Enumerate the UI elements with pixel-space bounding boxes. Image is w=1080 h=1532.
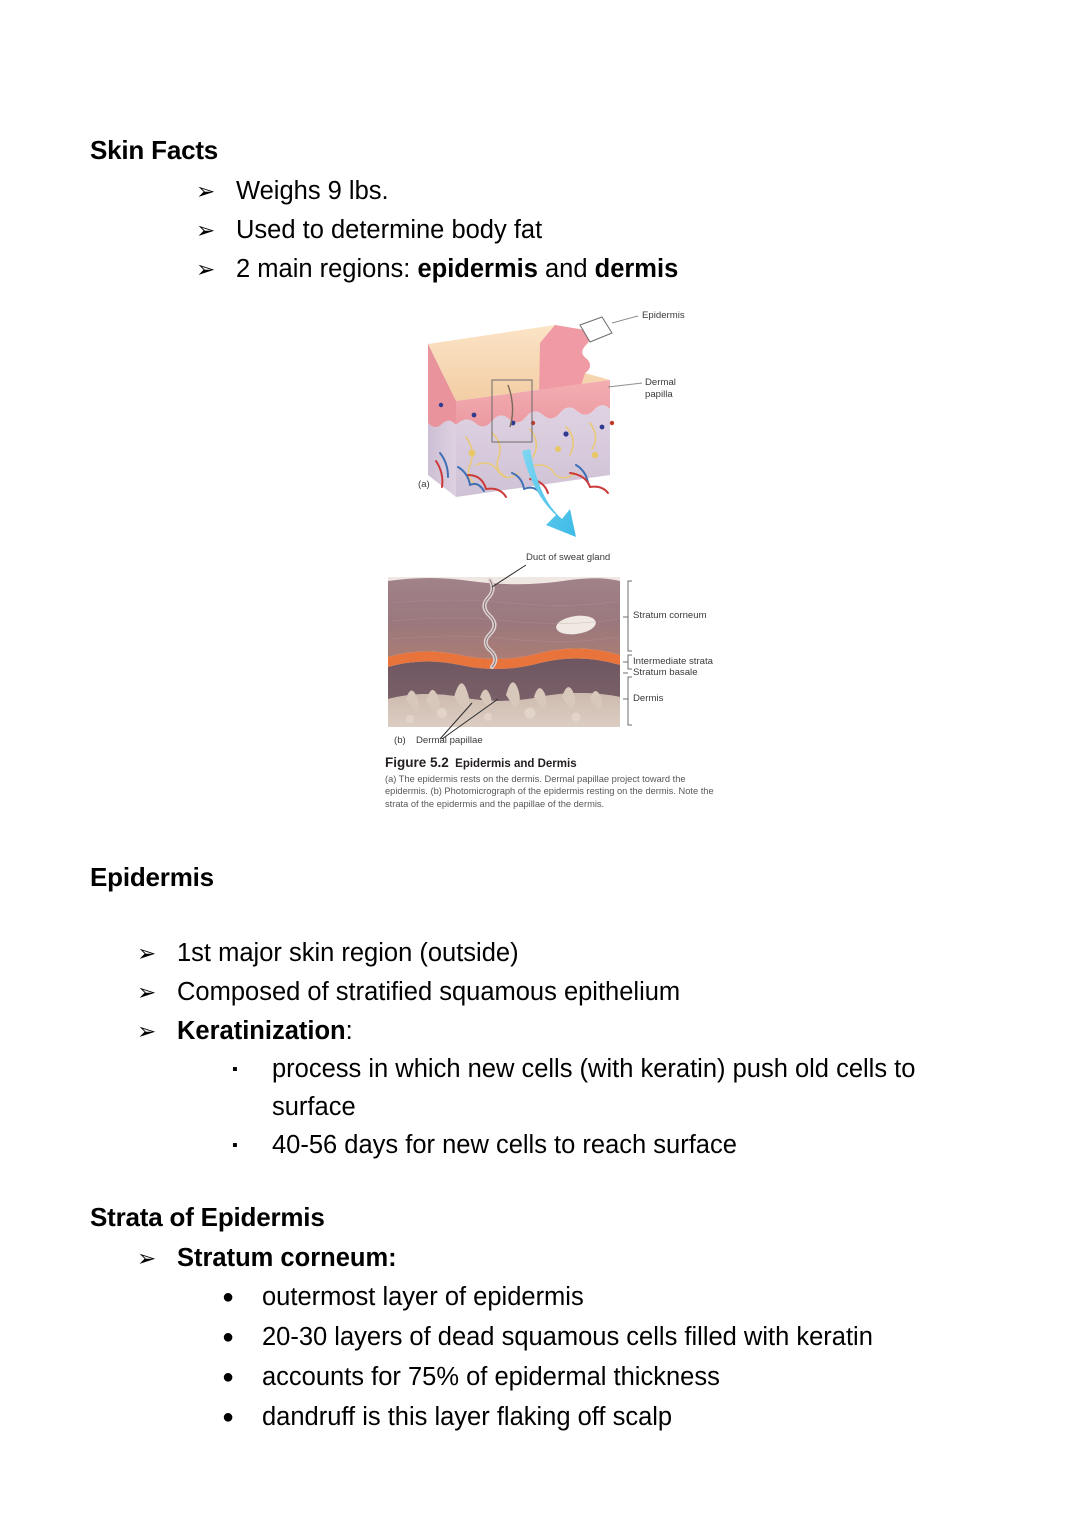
figure-label-dermal-papilla-line1: Dermal xyxy=(645,377,676,388)
list-item-label: 2 main regions: epidermis and dermis xyxy=(236,250,896,288)
list-item-label: outermost layer of epidermis xyxy=(262,1278,1012,1316)
section-heading-skin-facts: Skin Facts xyxy=(90,135,218,166)
list-item-label: Composed of stratified squamous epitheli… xyxy=(177,973,997,1011)
section-heading-strata-of-epidermis: Strata of Epidermis xyxy=(90,1202,325,1233)
list-item-label: process in which new cells (with keratin… xyxy=(272,1050,1002,1126)
figure-panel-a-skin-block: Epidermis Dermal papilla (a) xyxy=(380,297,720,542)
figure-caption-title-row: Figure 5.2 Epidermis and Dermis xyxy=(385,755,715,770)
text-run-bold: epidermis xyxy=(417,255,537,283)
figure-label-duct-of-sweat-gland: Duct of sweat gland xyxy=(526,552,610,563)
list-item-label: 40-56 days for new cells to reach surfac… xyxy=(272,1126,1002,1164)
text-run-bold: Stratum corneum: xyxy=(177,1244,397,1272)
figure-5-2: Epidermis Dermal papilla (a) xyxy=(380,297,720,822)
square-bullet-icon: ▪ xyxy=(232,1126,272,1166)
micrograph-illustration xyxy=(380,547,720,747)
list-item-label: 20-30 layers of dead squamous cells fill… xyxy=(262,1318,1012,1356)
text-run: 2 main regions: xyxy=(236,255,417,283)
figure-caption-title: Epidermis and Dermis xyxy=(455,758,576,770)
text-run: : xyxy=(346,1017,353,1045)
list-item-label: Stratum corneum: xyxy=(177,1239,997,1277)
list-item-label: accounts for 75% of epidermal thickness xyxy=(262,1358,1012,1396)
text-run-bold: dermis xyxy=(595,255,679,283)
list-item: ▪ 40-56 days for new cells to reach surf… xyxy=(232,1126,1002,1166)
figure-label-dermal-papillae: Dermal papillae xyxy=(416,735,483,746)
list-item: ➢ Weighs 9 lbs. xyxy=(196,172,896,210)
section-heading-epidermis: Epidermis xyxy=(90,862,214,893)
list-item: ● accounts for 75% of epidermal thicknes… xyxy=(222,1358,1012,1396)
list-item: ➢ Keratinization: xyxy=(137,1012,997,1050)
list-item: ➢ 2 main regions: epidermis and dermis xyxy=(196,250,896,288)
list-item-label: Keratinization: xyxy=(177,1012,997,1050)
list-item: ➢ Composed of stratified squamous epithe… xyxy=(137,973,997,1011)
arrow-bullet-icon: ➢ xyxy=(137,1012,177,1050)
arrow-bullet-icon: ➢ xyxy=(137,973,177,1011)
text-run: and xyxy=(538,255,595,283)
figure-caption-body: (a) The epidermis rests on the dermis. D… xyxy=(385,773,715,810)
disc-bullet-icon: ● xyxy=(222,1278,262,1316)
disc-bullet-icon: ● xyxy=(222,1398,262,1436)
arrow-bullet-icon: ➢ xyxy=(196,172,236,210)
list-item: ● outermost layer of epidermis xyxy=(222,1278,1012,1316)
document-page: Skin Facts ➢ Weighs 9 lbs. ➢ Used to det… xyxy=(0,0,1080,1532)
figure-panel-b-tag: (b) xyxy=(394,735,406,746)
list-item-label: dandruff is this layer flaking off scalp xyxy=(262,1398,1012,1436)
arrow-bullet-icon: ➢ xyxy=(137,934,177,972)
figure-label-dermal-papilla-line2: papilla xyxy=(645,389,673,400)
figure-caption: Figure 5.2 Epidermis and Dermis (a) The … xyxy=(385,755,715,810)
arrow-bullet-icon: ➢ xyxy=(137,1239,177,1277)
figure-label-epidermis: Epidermis xyxy=(642,310,685,321)
figure-label-stratum-basale: Stratum basale xyxy=(633,667,698,678)
skin-block-illustration xyxy=(380,297,720,542)
list-item-label: 1st major skin region (outside) xyxy=(177,934,997,972)
disc-bullet-icon: ● xyxy=(222,1318,262,1356)
arrow-bullet-icon: ➢ xyxy=(196,211,236,249)
list-item: ▪ process in which new cells (with kerat… xyxy=(232,1050,1002,1126)
list-item: ➢ 1st major skin region (outside) xyxy=(137,934,997,972)
text-run-bold: Keratinization xyxy=(177,1017,346,1045)
disc-bullet-icon: ● xyxy=(222,1358,262,1396)
list-item: ➢ Stratum corneum: xyxy=(137,1239,997,1277)
list-item-label: Weighs 9 lbs. xyxy=(236,172,896,210)
list-item: ● dandruff is this layer flaking off sca… xyxy=(222,1398,1012,1436)
figure-label-intermediate-strata: Intermediate strata xyxy=(633,656,713,667)
arrow-bullet-icon: ➢ xyxy=(196,250,236,288)
figure-panel-a-tag: (a) xyxy=(418,479,430,490)
list-item: ➢ Used to determine body fat xyxy=(196,211,896,249)
square-bullet-icon: ▪ xyxy=(232,1050,272,1090)
list-item: ● 20-30 layers of dead squamous cells fi… xyxy=(222,1318,1012,1356)
list-item-label: Used to determine body fat xyxy=(236,211,896,249)
figure-panel-b-micrograph: Duct of sweat gland Stratum corneum Inte… xyxy=(380,547,720,747)
figure-label-stratum-corneum: Stratum corneum xyxy=(633,610,707,621)
figure-number: Figure 5.2 xyxy=(385,755,449,770)
figure-label-dermis: Dermis xyxy=(633,693,663,704)
